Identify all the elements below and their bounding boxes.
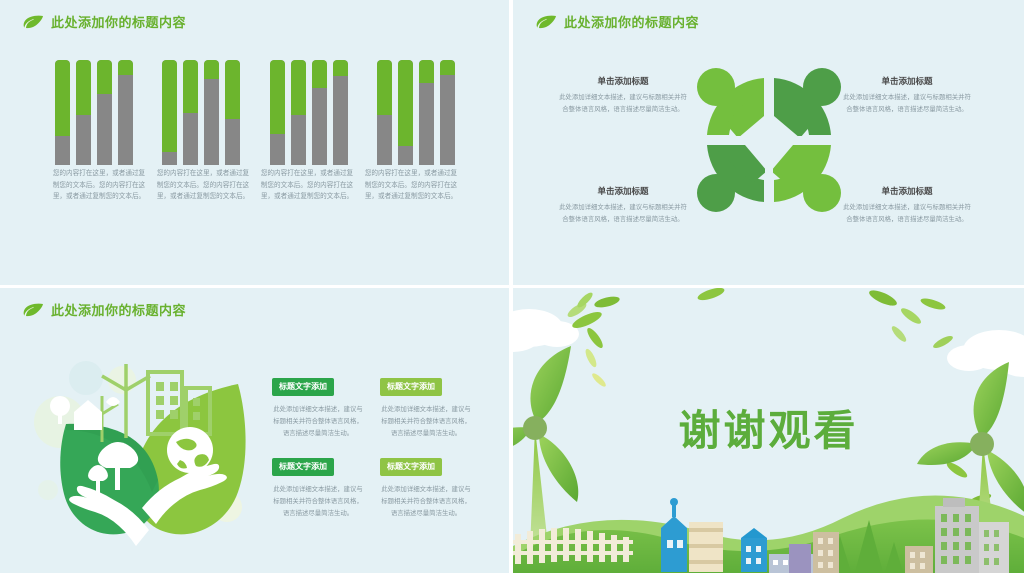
badge-block-body: 此处添加详细文本描述，建议与标题相关并符合整体语言风格，语言描述尽量简洁生动。 (380, 483, 472, 520)
four-people-recycle-icon (689, 60, 849, 220)
chart-caption-row: 您的内容打在这里，或者通过复制您的文本后。您的内容打在这里，或者通过复制您的文本… (52, 168, 458, 203)
presentation-thumbnail-grid: 此处添加你的标题内容 您的内容打在这里，或者通过复制您的文本后。您的内容打在这里… (0, 0, 1024, 573)
bar-green-segment (225, 60, 240, 119)
leaf-icon (22, 303, 44, 317)
bar-green-segment (333, 60, 348, 76)
bar (55, 60, 70, 165)
chart-caption: 您的内容打在这里，或者通过复制您的文本后。您的内容打在这里，或者通过复制您的文本… (364, 168, 458, 203)
badge-block[interactable]: 标题文字添加此处添加详细文本描述，建议与标题相关并符合整体语言风格，语言描述尽量… (272, 376, 364, 440)
eco-leaf-hands-city-icon (30, 350, 265, 550)
bar (333, 60, 348, 165)
badge-block[interactable]: 标题文字添加此处添加详细文本描述，建议与标题相关并符合整体语言风格，语言描述尽量… (380, 456, 472, 520)
info-block[interactable]: 单击添加标题 此处添加详细文本描述，建议与标题相关并符合整体语言风格，语言描述尽… (559, 185, 687, 226)
info-block[interactable]: 单击添加标题 此处添加详细文本描述，建议与标题相关并符合整体语言风格，语言描述尽… (843, 185, 971, 226)
status-badge[interactable]: 标题文字添加 (380, 458, 442, 476)
badge-block-body: 此处添加详细文本描述，建议与标题相关并符合整体语言风格，语言描述尽量简洁生动。 (380, 403, 472, 440)
info-block-body: 此处添加详细文本描述，建议与标题相关并符合整体语言风格，语言描述尽量简洁生动。 (559, 202, 687, 226)
bar (76, 60, 91, 165)
bar (398, 60, 413, 165)
status-badge[interactable]: 标题文字添加 (272, 378, 334, 396)
bokeh-circle (38, 480, 58, 500)
bar (225, 60, 240, 165)
bar-green-segment (270, 60, 285, 134)
bar-group (162, 60, 240, 165)
bar-green-segment (55, 60, 70, 136)
leaf-icon (535, 15, 557, 29)
bar (419, 60, 434, 165)
stacked-bar-chart (55, 60, 455, 165)
bar (440, 60, 455, 165)
bar-green-segment (162, 60, 177, 152)
chart-caption: 您的内容打在这里，或者通过复制您的文本后。您的内容打在这里，或者通过复制您的文本… (52, 168, 146, 203)
status-badge[interactable]: 标题文字添加 (380, 378, 442, 396)
info-block-heading: 单击添加标题 (559, 185, 687, 197)
page-title: 此处添加你的标题内容 (51, 12, 186, 31)
bar-green-segment (312, 60, 327, 88)
info-block-body: 此处添加详细文本描述，建议与标题相关并符合整体语言风格，语言描述尽量简洁生动。 (843, 202, 971, 226)
bar (118, 60, 133, 165)
bar-green-segment (291, 60, 306, 115)
bar (312, 60, 327, 165)
bar (377, 60, 392, 165)
slide-header-top-left: 此处添加你的标题内容 (22, 12, 186, 31)
badge-block[interactable]: 标题文字添加此处添加详细文本描述，建议与标题相关并符合整体语言风格，语言描述尽量… (380, 376, 472, 440)
bar (183, 60, 198, 165)
info-block-heading: 单击添加标题 (843, 185, 971, 197)
bar (97, 60, 112, 165)
bar-group (377, 60, 455, 165)
info-block-body: 此处添加详细文本描述，建议与标题相关并符合整体语言风格，语言描述尽量简洁生动。 (559, 92, 687, 116)
thanks-text: 谢谢观看 (513, 397, 1024, 458)
badge-block-body: 此处添加详细文本描述，建议与标题相关并符合整体语言风格，语言描述尽量简洁生动。 (272, 403, 364, 440)
chart-caption: 您的内容打在这里，或者通过复制您的文本后。您的内容打在这里，或者通过复制您的文本… (156, 168, 250, 203)
bar-green-segment (419, 60, 434, 83)
leaf-icon (22, 15, 44, 29)
badge-block-body: 此处添加详细文本描述，建议与标题相关并符合整体语言风格，语言描述尽量简洁生动。 (272, 483, 364, 520)
slide-header-bottom-left: 此处添加你的标题内容 (22, 300, 186, 319)
slide-header-top-right: 此处添加你的标题内容 (535, 12, 699, 31)
info-block-heading: 单击添加标题 (559, 75, 687, 87)
badge-block-grid: 标题文字添加此处添加详细文本描述，建议与标题相关并符合整体语言风格，语言描述尽量… (272, 376, 472, 519)
bar (162, 60, 177, 165)
slide-bottom-right[interactable]: 谢谢观看 (513, 288, 1024, 573)
bar (270, 60, 285, 165)
info-block[interactable]: 单击添加标题 此处添加详细文本描述，建议与标题相关并符合整体语言风格，语言描述尽… (843, 75, 971, 116)
slide-top-left[interactable]: 此处添加你的标题内容 您的内容打在这里，或者通过复制您的文本后。您的内容打在这里… (0, 0, 509, 285)
info-block-body: 此处添加详细文本描述，建议与标题相关并符合整体语言风格，语言描述尽量简洁生动。 (843, 92, 971, 116)
bar (204, 60, 219, 165)
badge-block[interactable]: 标题文字添加此处添加详细文本描述，建议与标题相关并符合整体语言风格，语言描述尽量… (272, 456, 364, 520)
bar-green-segment (76, 60, 91, 115)
bar-group (270, 60, 348, 165)
info-block[interactable]: 单击添加标题 此处添加详细文本描述，建议与标题相关并符合整体语言风格，语言描述尽… (559, 75, 687, 116)
bar-green-segment (118, 60, 133, 75)
chart-caption: 您的内容打在这里，或者通过复制您的文本后。您的内容打在这里，或者通过复制您的文本… (260, 168, 354, 203)
bar-green-segment (398, 60, 413, 146)
bar (291, 60, 306, 165)
bar-green-segment (377, 60, 392, 115)
bar-green-segment (97, 60, 112, 94)
bar-green-segment (440, 60, 455, 75)
bar-green-segment (204, 60, 219, 79)
info-block-heading: 单击添加标题 (843, 75, 971, 87)
status-badge[interactable]: 标题文字添加 (272, 458, 334, 476)
bokeh-circle (69, 361, 103, 395)
slide-bottom-left[interactable]: 此处添加你的标题内容 (0, 288, 509, 573)
page-title: 此处添加你的标题内容 (51, 300, 186, 319)
page-title: 此处添加你的标题内容 (564, 12, 699, 31)
slide-top-right[interactable]: 此处添加你的标题内容 单击添加标题 此处添加详细文本 (513, 0, 1024, 285)
bar-green-segment (183, 60, 198, 113)
bar-group (55, 60, 133, 165)
